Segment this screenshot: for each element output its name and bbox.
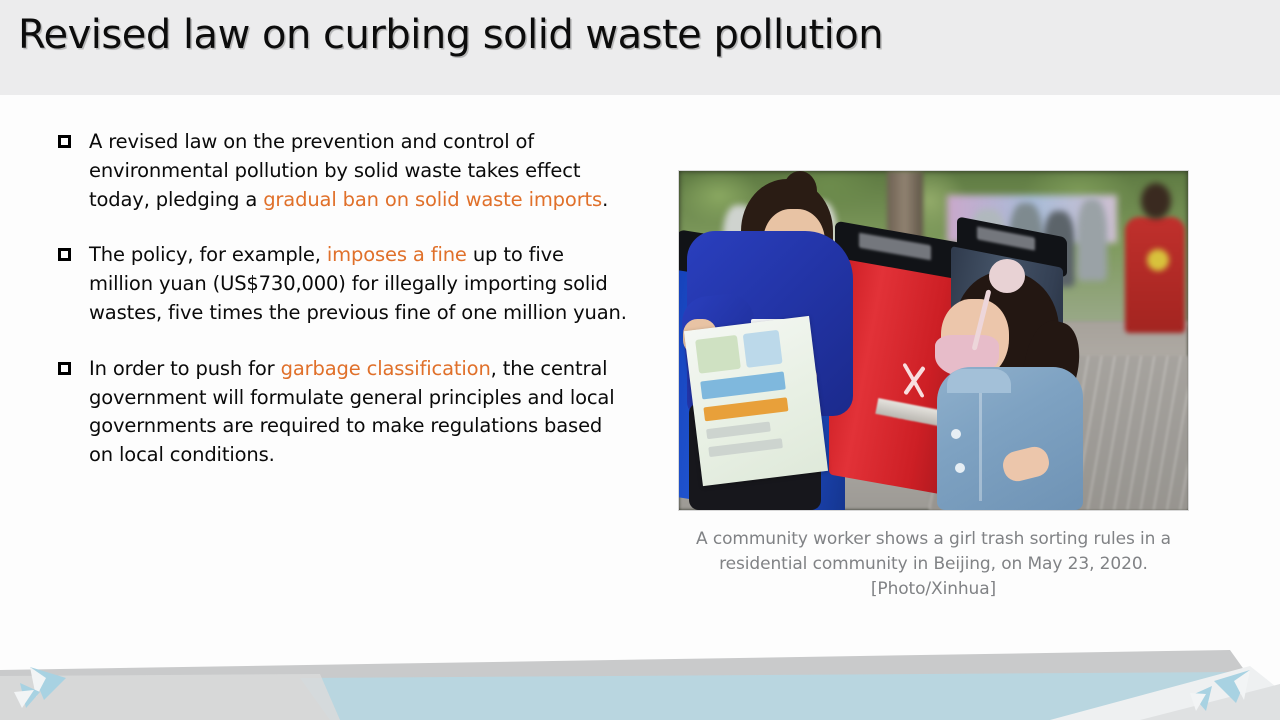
slide-canvas: Revised law on curbing solid waste pollu… [0,0,1280,720]
hollow-square-bullet-icon [58,248,71,261]
photo-volunteer-vest [1125,217,1185,333]
bottom-decoration [0,650,1280,720]
pamphlet-illustration [700,371,786,399]
slide-body: A revised law on the prevention and cont… [0,95,1280,650]
list-item: A revised law on the prevention and cont… [58,128,628,214]
bullet-text: In order to push for garbage classificat… [89,355,628,470]
photo-image: 可回收物 有害垃圾 [679,171,1188,510]
photo-pamphlet [684,316,828,486]
bullet-segment: The policy, for example, [89,243,327,266]
girl-jacket-collar [947,369,1011,393]
bullet-segment: . [602,188,608,211]
girl-jacket-flower-detail-icon [951,429,961,439]
pamphlet-illustration [695,335,741,374]
photo-caption: A community worker shows a girl trash so… [679,527,1188,602]
bullet-list: A revised law on the prevention and cont… [58,128,628,497]
bullet-highlight: gradual ban on solid waste imports [263,188,602,211]
bullet-segment: In order to push for [89,357,281,380]
bullet-highlight: garbage classification [281,357,491,380]
girl-jacket-seam [979,383,982,501]
worker-ponytail [783,171,817,211]
bullet-text: A revised law on the prevention and cont… [89,128,628,214]
pamphlet-illustration [743,330,783,368]
photo-volunteer-vest-emblem [1147,249,1169,271]
photo-volunteer-head [1141,183,1171,219]
page-title: Revised law on curbing solid waste pollu… [18,12,883,58]
hollow-square-bullet-icon [58,362,71,375]
photo-figure: 可回收物 有害垃圾 [679,171,1188,602]
girl-hair-bun [989,259,1025,293]
list-item: In order to push for garbage classificat… [58,355,628,470]
pamphlet-illustration [703,397,788,421]
list-item: The policy, for example, imposes a fine … [58,241,628,327]
photo-background-person [1077,199,1107,281]
bullet-highlight: imposes a fine [327,243,467,266]
hollow-square-bullet-icon [58,135,71,148]
girl-jacket-flower-detail-icon [955,463,965,473]
pamphlet-illustration [708,438,783,457]
bin-hazard-symbol-icon [893,357,935,406]
pamphlet-illustration [706,421,771,439]
bullet-text: The policy, for example, imposes a fine … [89,241,628,327]
